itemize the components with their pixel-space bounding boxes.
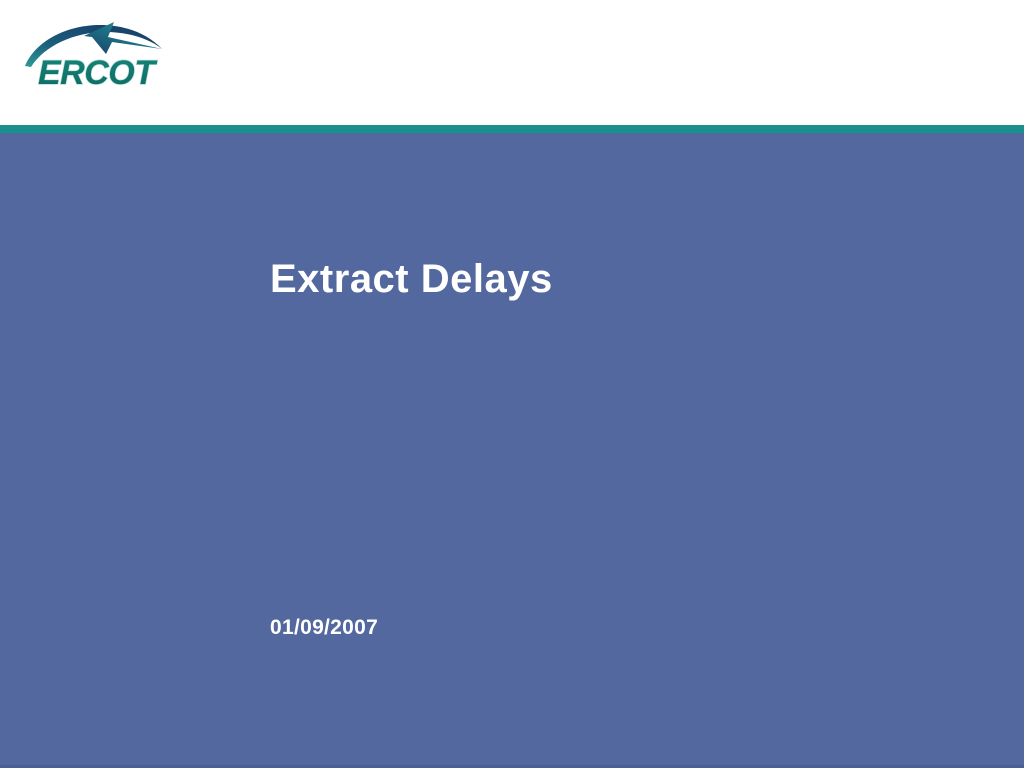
slide-date: 01/09/2007: [270, 616, 378, 639]
svg-text:ERCOT: ERCOT: [38, 54, 158, 92]
ercot-logo: ERCOT: [22, 20, 182, 92]
ercot-logo-graphic: ERCOT: [22, 20, 182, 92]
teal-divider-rule: [0, 125, 1024, 133]
page-title: Extract Delays: [270, 257, 553, 301]
slide-header: ERCOT: [0, 0, 1024, 125]
presentation-slide: ERCOT Extract Delays 01/09/2007: [0, 0, 1024, 768]
ercot-wordmark: ERCOT: [38, 54, 158, 92]
slide-body: Extract Delays 01/09/2007: [0, 133, 1024, 768]
